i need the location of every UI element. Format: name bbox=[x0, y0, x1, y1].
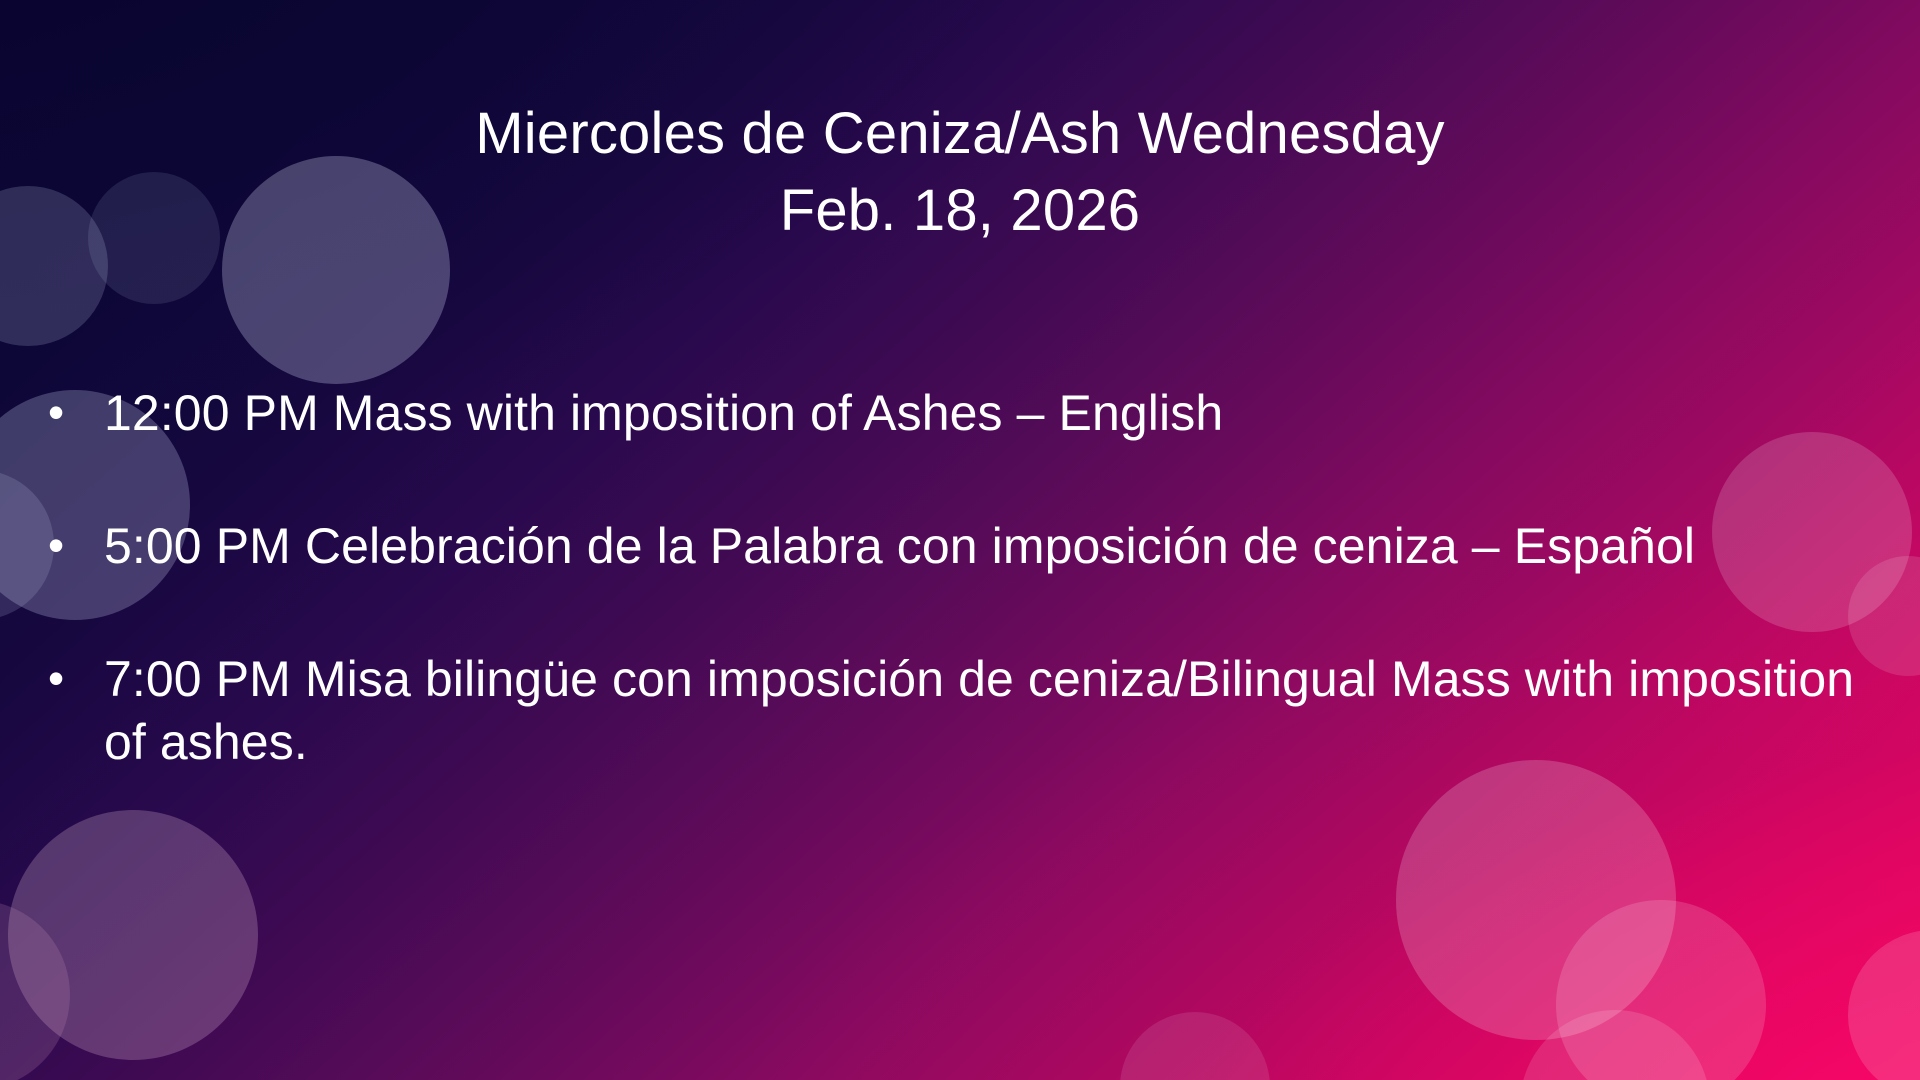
bullet-item: • 7:00 PM Misa bilingüe con imposición d… bbox=[48, 648, 1874, 774]
bullet-marker-icon: • bbox=[48, 515, 104, 574]
bullet-marker-icon: • bbox=[48, 648, 104, 707]
slide-title-line-2: Feb. 18, 2026 bbox=[0, 173, 1920, 250]
slide-content: Miercoles de Ceniza/Ash Wednesday Feb. 1… bbox=[0, 0, 1920, 1080]
bullet-item: • 5:00 PM Celebración de la Palabra con … bbox=[48, 515, 1874, 578]
bullet-text-spanish-celebration: 5:00 PM Celebración de la Palabra con im… bbox=[104, 515, 1874, 578]
bullet-marker-icon: • bbox=[48, 382, 104, 441]
slide-title: Miercoles de Ceniza/Ash Wednesday Feb. 1… bbox=[0, 96, 1920, 249]
bullet-text-english-mass: 12:00 PM Mass with imposition of Ashes –… bbox=[104, 382, 1874, 445]
slide-title-line-1: Miercoles de Ceniza/Ash Wednesday bbox=[0, 96, 1920, 173]
presentation-slide: Miercoles de Ceniza/Ash Wednesday Feb. 1… bbox=[0, 0, 1920, 1080]
bullet-item: • 12:00 PM Mass with imposition of Ashes… bbox=[48, 382, 1874, 445]
slide-bullet-list: • 12:00 PM Mass with imposition of Ashes… bbox=[48, 382, 1874, 774]
bullet-text-bilingual-mass: 7:00 PM Misa bilingüe con imposición de … bbox=[104, 648, 1874, 774]
